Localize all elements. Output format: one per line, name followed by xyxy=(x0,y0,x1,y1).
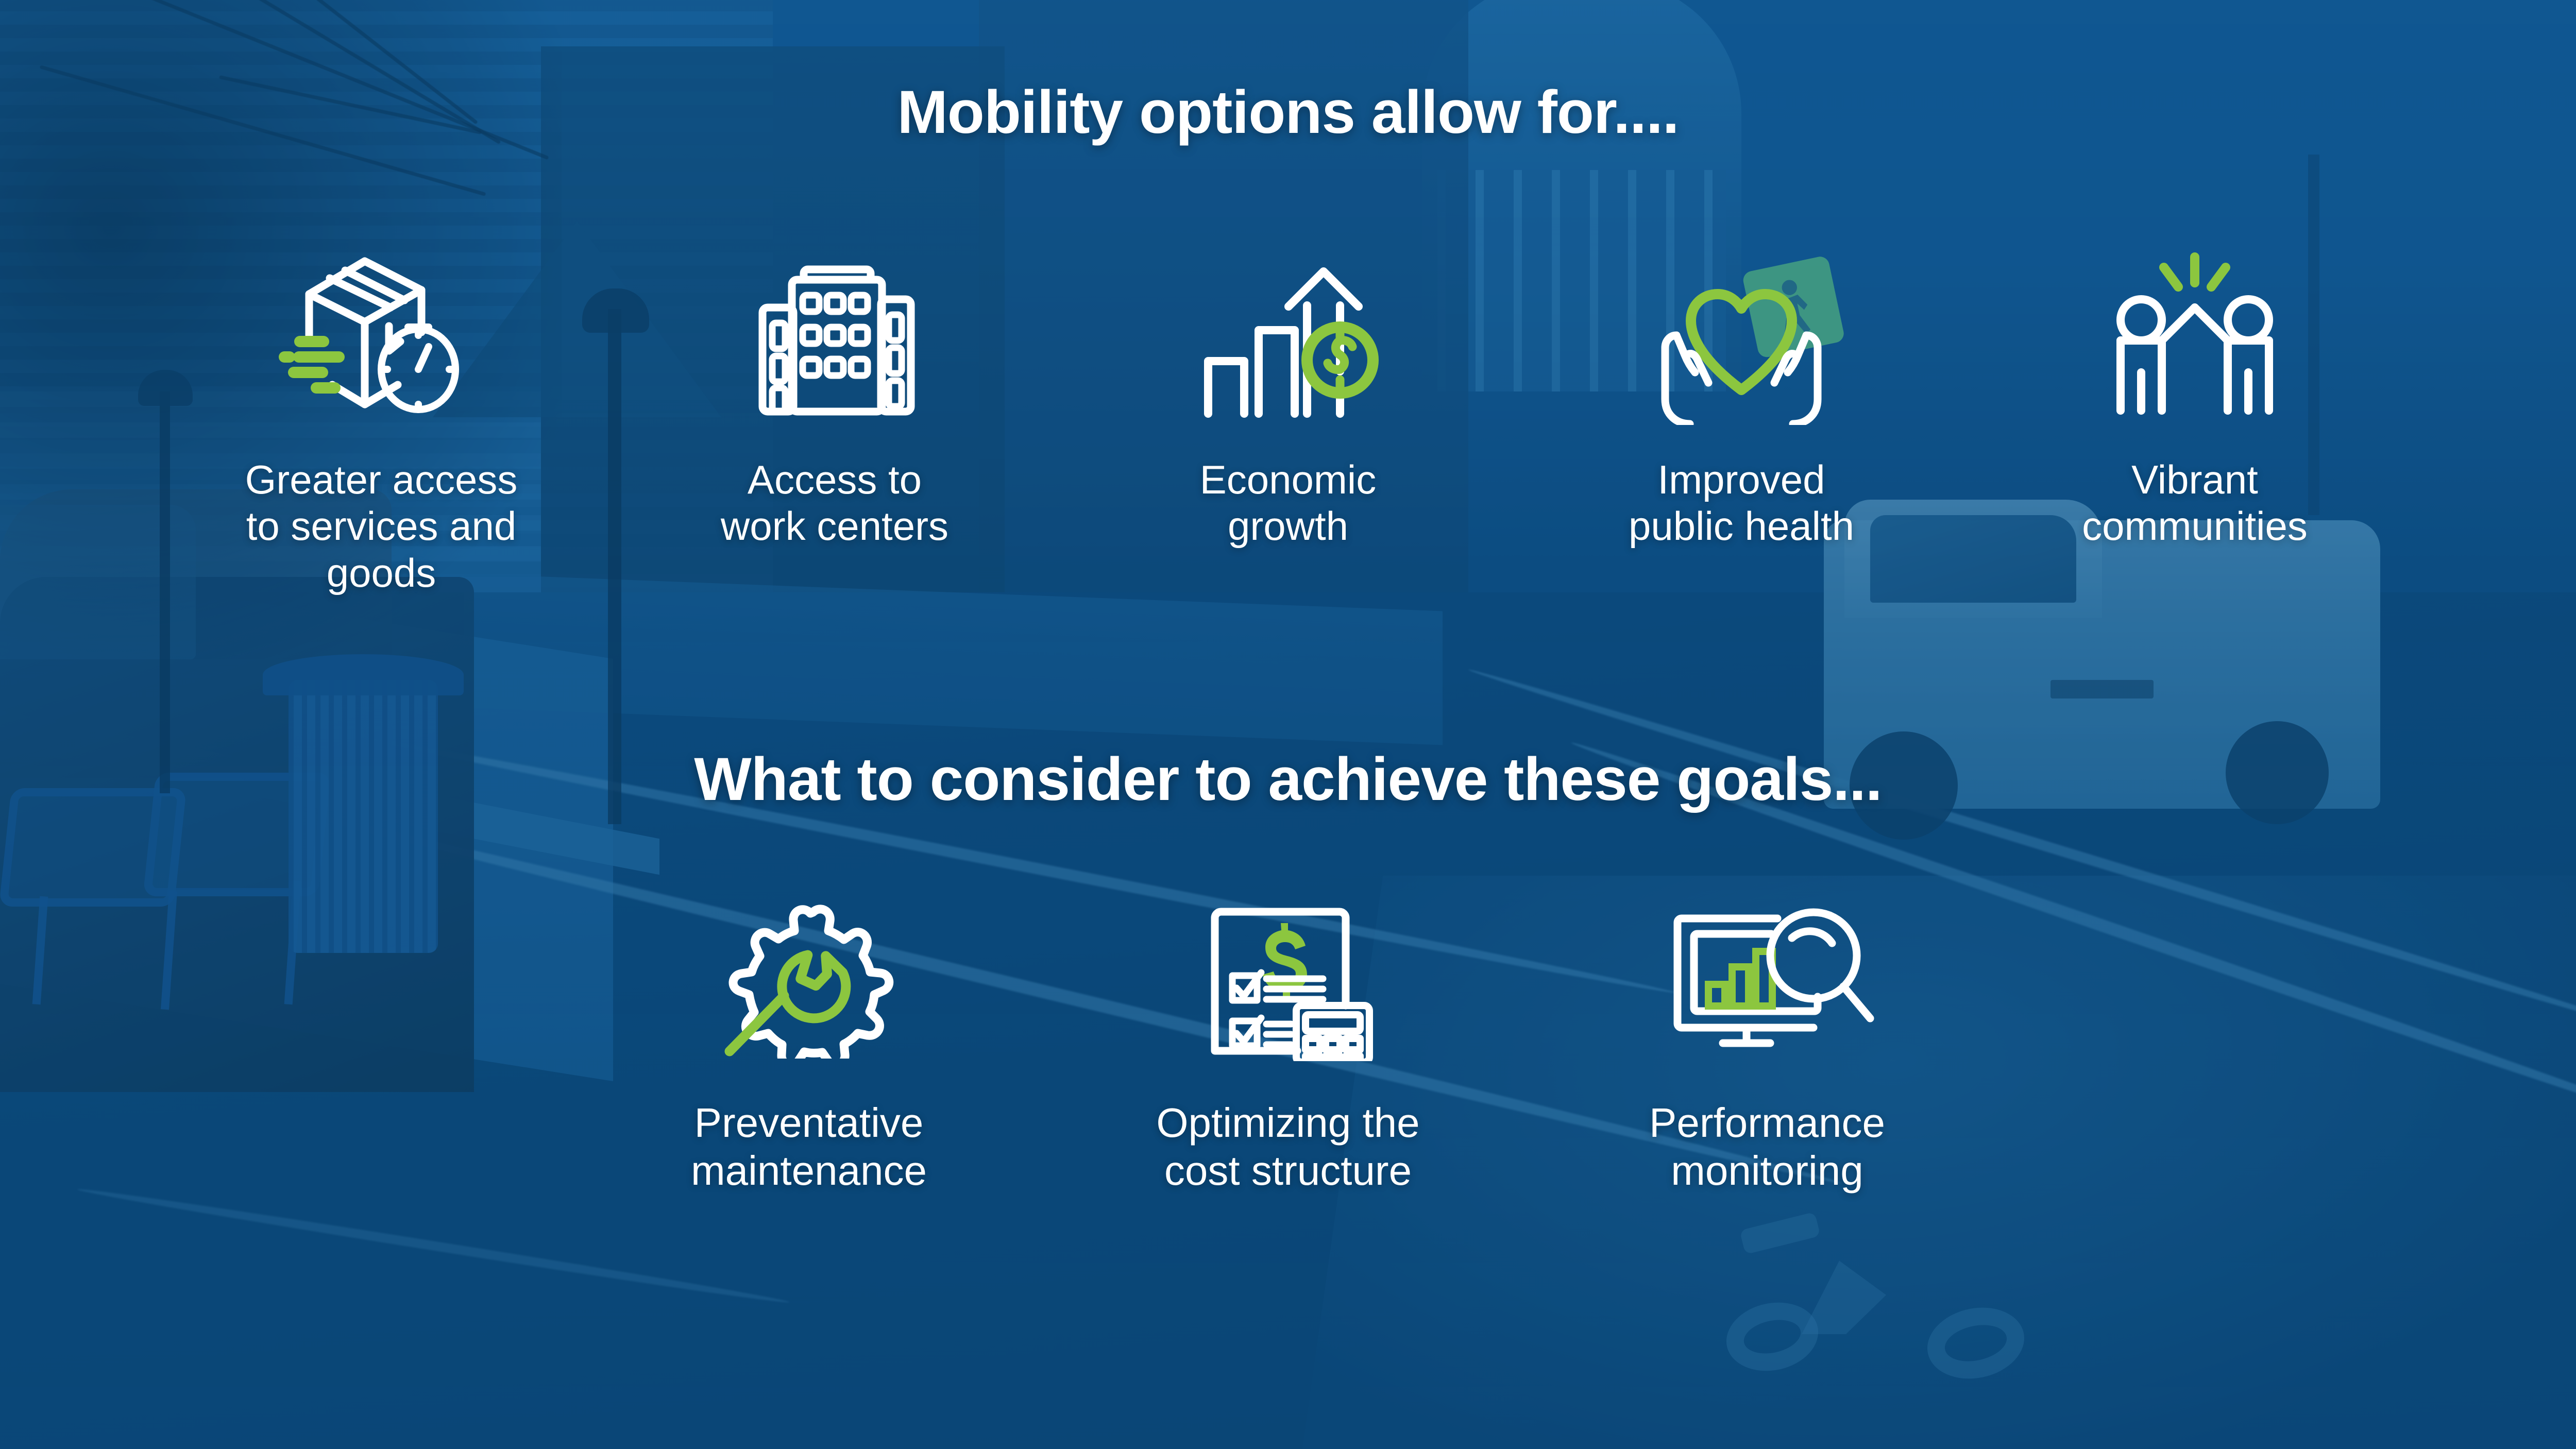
consideration-label: Performance monitoring xyxy=(1649,1099,1885,1195)
invoice-calculator-icon xyxy=(1200,871,1376,1077)
package-delivery-stopwatch-icon xyxy=(278,227,484,443)
office-buildings-icon xyxy=(734,227,935,443)
benefit-item-economic-growth[interactable]: Economic growth xyxy=(1092,227,1484,596)
heading-benefits: Mobility options allow for.... xyxy=(0,77,2576,147)
consideration-item-cost-structure[interactable]: Optimizing the cost structure xyxy=(1108,871,1468,1195)
growth-chart-dollar-icon xyxy=(1188,227,1388,443)
monitor-chart-magnifier-icon xyxy=(1659,871,1875,1077)
consideration-item-performance-monitoring[interactable]: Performance monitoring xyxy=(1587,871,1947,1195)
heading-considerations: What to consider to achieve these goals.… xyxy=(0,744,2576,814)
gear-wrench-icon xyxy=(716,871,902,1077)
benefit-item-vibrant-communities[interactable]: Vibrant communities xyxy=(1999,227,2391,596)
benefits-row: Greater access to services and goods xyxy=(0,227,2576,596)
benefit-label: Access to work centers xyxy=(721,456,948,550)
hands-holding-heart-icon xyxy=(1633,227,1850,443)
consideration-item-preventative-maintenance[interactable]: Preventative maintenance xyxy=(629,871,989,1195)
benefit-item-greater-access[interactable]: Greater access to services and goods xyxy=(185,227,577,596)
benefit-label: Improved public health xyxy=(1629,456,1854,550)
benefit-label: Economic growth xyxy=(1200,456,1376,550)
consideration-label: Preventative maintenance xyxy=(691,1099,927,1195)
consideration-label: Optimizing the cost structure xyxy=(1156,1099,1419,1195)
slide-canvas: Mobility options allow for.... xyxy=(0,0,2576,1449)
slide-content: Mobility options allow for.... xyxy=(0,0,2576,1449)
benefit-item-public-health[interactable]: Improved public health xyxy=(1546,227,1937,596)
benefit-label: Vibrant communities xyxy=(2082,456,2308,550)
people-high-five-icon xyxy=(2092,227,2298,443)
benefit-item-work-centers[interactable]: Access to work centers xyxy=(639,227,1030,596)
benefit-label: Greater access to services and goods xyxy=(245,456,518,596)
considerations-row: Preventative maintenance xyxy=(0,871,2576,1195)
